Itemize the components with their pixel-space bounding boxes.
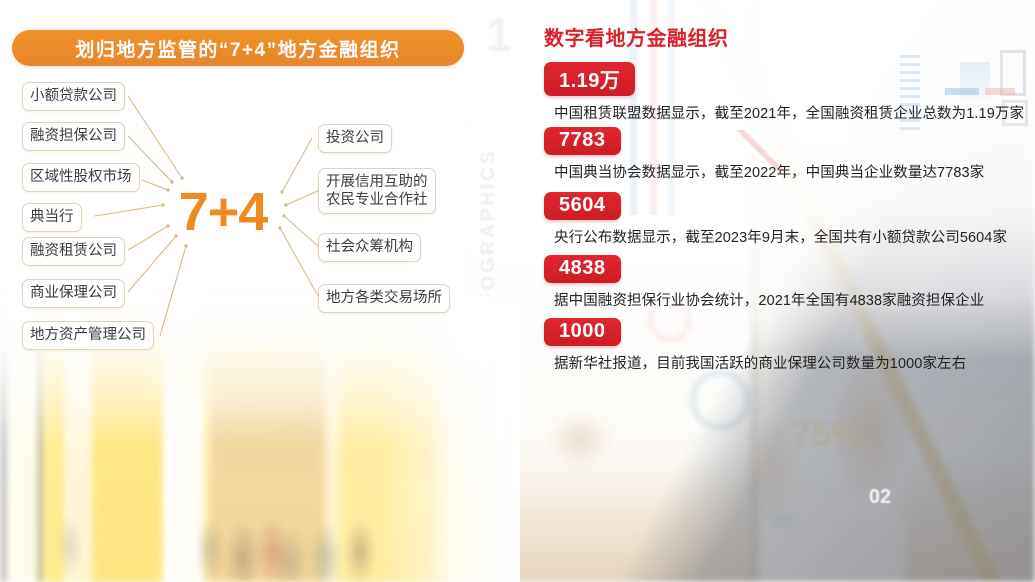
stat-badge-2: 7783 [544, 127, 621, 155]
node-right-4[interactable]: 地方各类交易场所 [318, 284, 450, 313]
stat-text-3: 央行公布数据显示，截至2023年9月末，全国共有小额贷款公司5604家 [554, 226, 1035, 247]
stat-item-2: 7783 中国典当协会数据显示，截至2022年，中国典当企业数量达7783家 [492, 127, 1035, 182]
stat-badge-1: 1.19万 [544, 62, 635, 96]
stat-badge-3: 5604 [544, 192, 621, 220]
stat-text-4: 据中国融资担保行业协会统计，2021年全国有4838家融资担保企业 [554, 289, 1035, 310]
center-label-7-plus-4: 7+4 [163, 181, 283, 243]
node-left-3[interactable]: 区域性股权市场 [22, 163, 140, 192]
stat-item-4: 4838 据中国融资担保行业协会统计，2021年全国有4838家融资担保企业 [492, 255, 1035, 310]
stat-text-1: 中国租赁联盟数据显示，截至2021年，全国融资租赁企业总数为1.19万家 [554, 102, 1035, 123]
stat-item-1: 1.19万 中国租赁联盟数据显示，截至2021年，全国融资租赁企业总数为1.19… [492, 62, 1035, 123]
stat-badge-5: 1000 [544, 318, 621, 346]
stat-item-3: 5604 央行公布数据显示，截至2023年9月末，全国共有小额贷款公司5604家 [492, 192, 1035, 247]
node-left-6[interactable]: 商业保理公司 [22, 279, 125, 308]
infographic-canvas: 1 INFOGRAPHICS TOP 75% 02 划归地方监管的“7+4”地方… [0, 0, 1035, 582]
node-left-2[interactable]: 融资担保公司 [22, 122, 125, 151]
node-right-3[interactable]: 社会众筹机构 [318, 233, 421, 262]
stat-badge-4: 4838 [544, 255, 621, 283]
stat-text-2: 中国典当协会数据显示，截至2022年，中国典当企业数量达7783家 [554, 161, 1035, 182]
stat-item-5: 1000 据新华社报道，目前我国活跃的商业保理公司数量为1000家左右 [492, 318, 1035, 373]
node-left-1[interactable]: 小额贷款公司 [22, 82, 125, 111]
node-left-7[interactable]: 地方资产管理公司 [22, 321, 154, 350]
stat-text-5: 据新华社报道，目前我国活跃的商业保理公司数量为1000家左右 [554, 352, 1035, 373]
node-right-1[interactable]: 投资公司 [318, 124, 392, 153]
node-left-4[interactable]: 典当行 [22, 203, 82, 232]
node-right-2[interactable]: 开展信用互助的农民专业合作社 [318, 168, 436, 214]
statistics-panel: 数字看地方金融组织 1.19万 中国租赁联盟数据显示，截至2021年，全国融资租… [492, 0, 1035, 582]
statistics-panel-title: 数字看地方金融组织 [544, 22, 729, 51]
radial-diagram-panel: 划归地方监管的“7+4”地方金融组织 [0, 0, 492, 582]
node-left-5[interactable]: 融资租赁公司 [22, 237, 125, 266]
